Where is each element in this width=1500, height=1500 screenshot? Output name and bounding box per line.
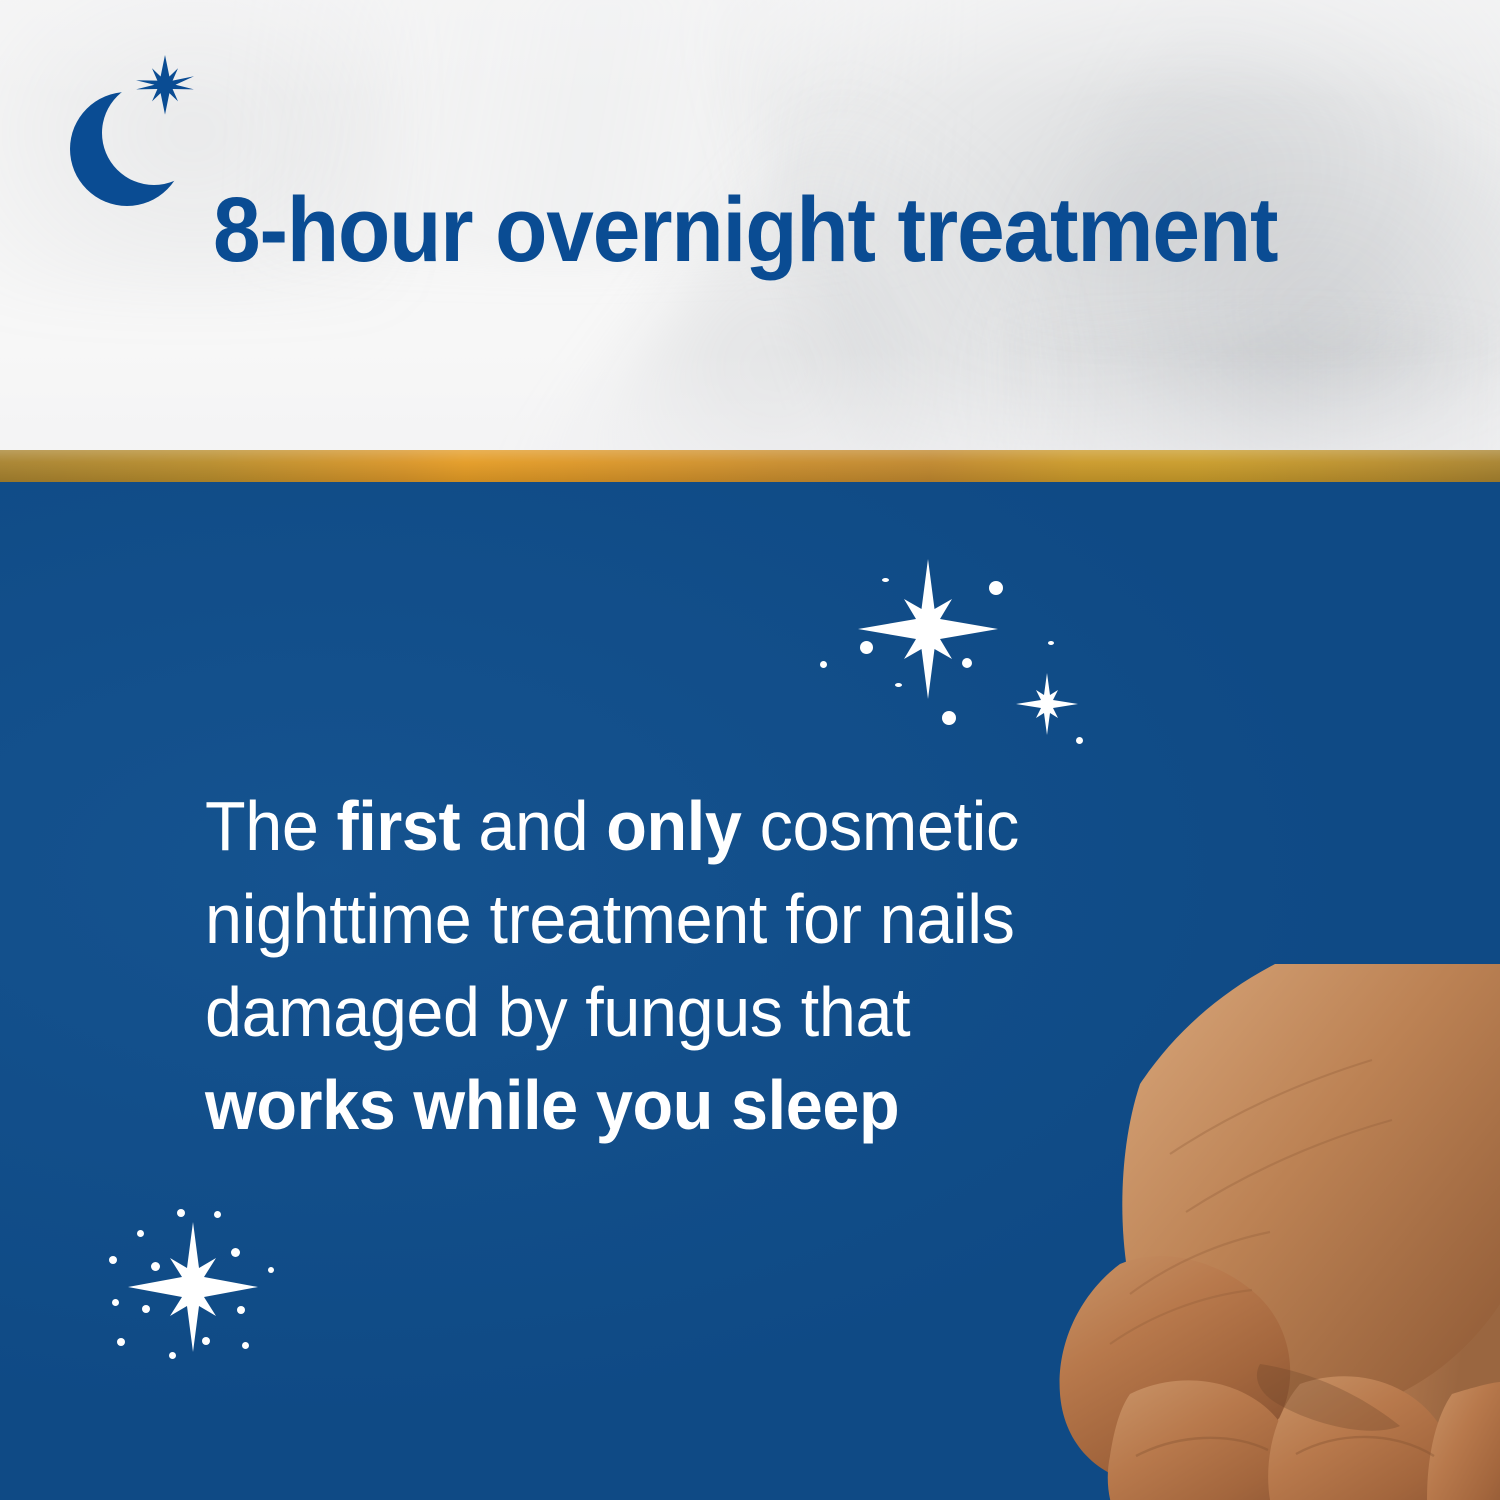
headline-line-3: damaged by fungus that bbox=[205, 966, 975, 1059]
headline-line-4: works while you sleep bbox=[205, 1059, 975, 1152]
headline-line-2: nighttime treatment for nails bbox=[205, 873, 975, 966]
gold-accent-band bbox=[0, 450, 1500, 482]
ad-banner: 8-hour overnight treatment bbox=[0, 0, 1500, 1500]
headline-copy: The first and only cosmetic nighttime tr… bbox=[205, 780, 975, 1152]
crescent-moon-with-star-icon bbox=[55, 45, 230, 220]
headline-line-1: The first and only cosmetic bbox=[205, 780, 975, 873]
page-title: 8-hour overnight treatment bbox=[213, 178, 1264, 282]
